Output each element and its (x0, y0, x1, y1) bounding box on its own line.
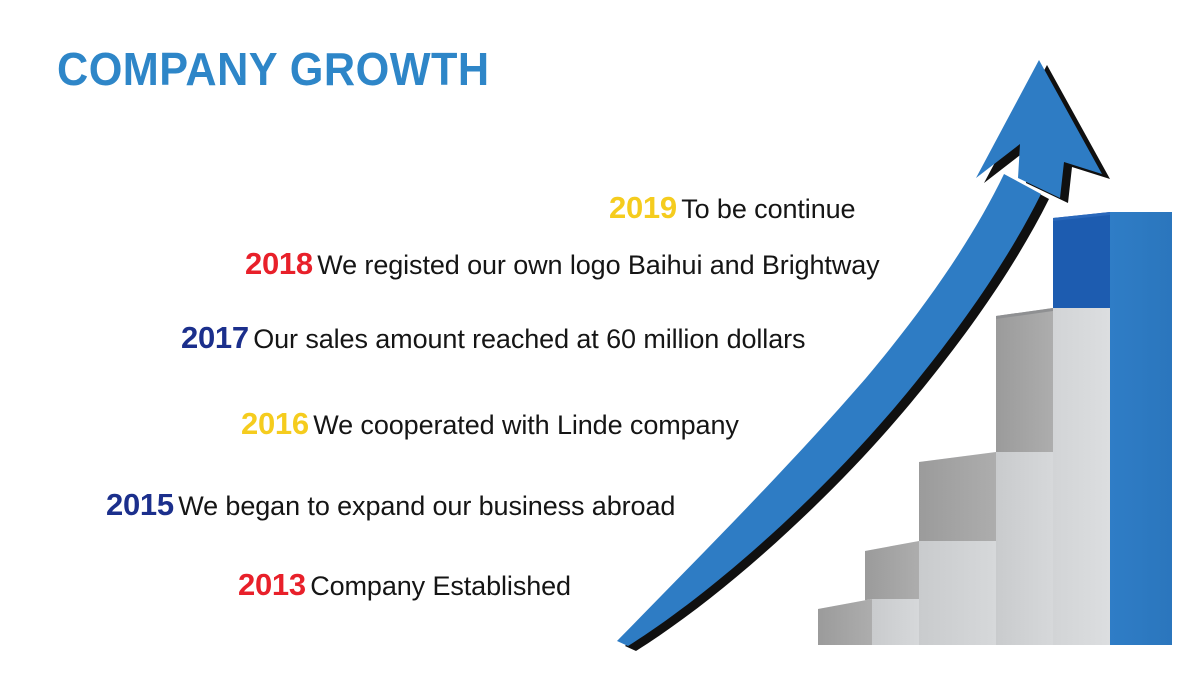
arrow-head (976, 60, 1102, 198)
milestone-year: 2015 (106, 487, 174, 522)
milestone-year: 2016 (241, 406, 309, 441)
milestone-year: 2013 (238, 567, 306, 602)
milestone-year: 2018 (245, 246, 313, 281)
list-item: 2013 Company Established (238, 569, 571, 600)
list-item: 2015 We began to expand our business abr… (106, 489, 675, 520)
milestone-text: Company Established (310, 571, 571, 601)
bar-2013 (818, 599, 919, 645)
milestone-year: 2017 (181, 320, 249, 355)
slide-canvas: COMPANY GROWTH 2019 To be continue 2018 … (0, 0, 1200, 679)
growth-chart-graphic (600, 40, 1200, 660)
